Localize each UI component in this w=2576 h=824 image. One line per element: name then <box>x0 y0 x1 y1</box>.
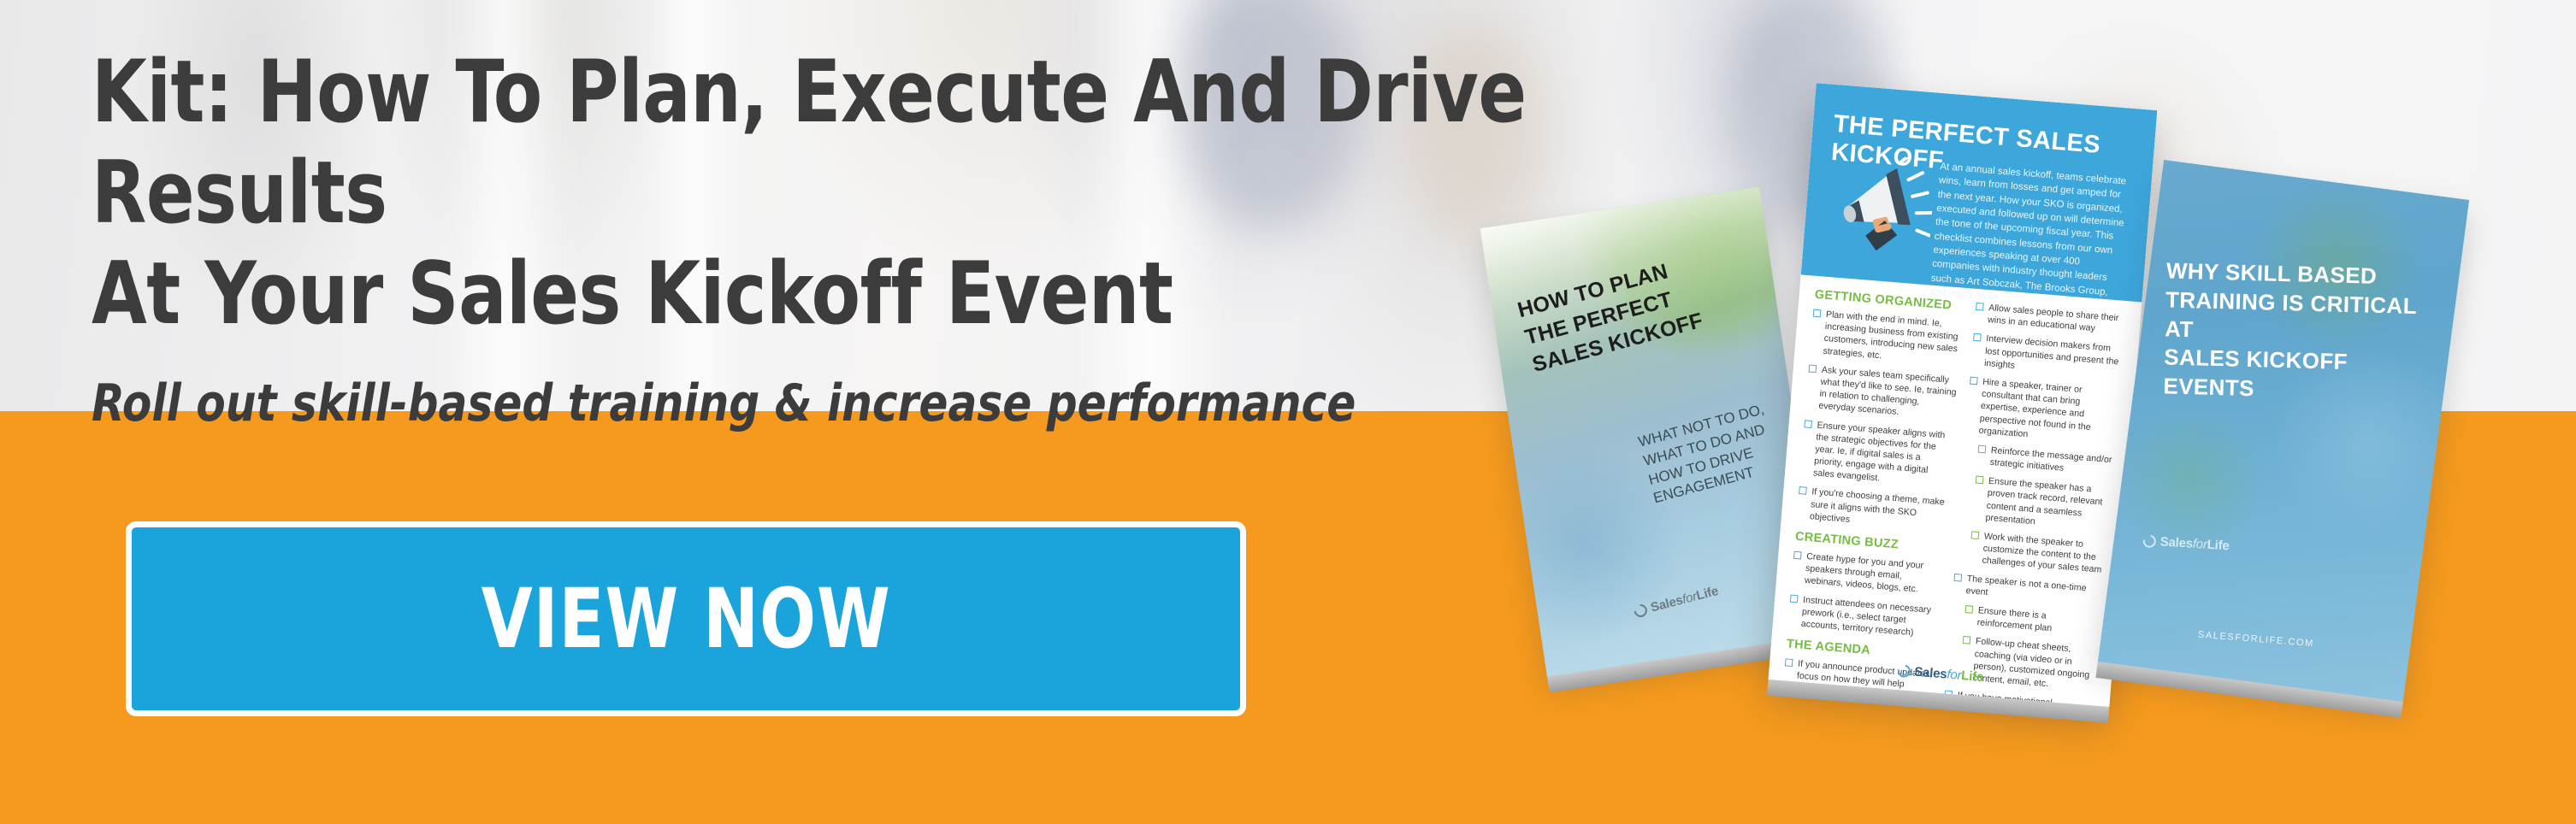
checklist-item-label: Ask your sales team specifically what th… <box>1818 363 1959 422</box>
checklist-item[interactable]: Ask your sales team specifically what th… <box>1805 362 1959 423</box>
checklist-item-label: Ensure your speaker aligns with the stra… <box>1813 419 1954 491</box>
checklist-item-label: Ensure the speaker has a proven track re… <box>1985 475 2112 533</box>
booklet-cover: WHY SKILL BASED TRAINING IS CRITICAL AT … <box>2098 160 2469 702</box>
page-subtitle: Roll out skill-based training & increase… <box>92 373 1603 434</box>
checklist-header: THE PERFECT SALES KICKOFF <box>1801 83 2158 302</box>
brand-word-1: Sales <box>2159 534 2193 550</box>
checklist-item[interactable]: Hire a speaker, trainer or consultant th… <box>1965 375 2119 448</box>
checkbox-icon[interactable] <box>1970 377 1978 386</box>
checklist-item-label: Plan with the end in mind. Ie, increasin… <box>1823 309 1963 368</box>
checklist-item[interactable]: Work with the speaker to customize the c… <box>1969 529 2107 576</box>
checkbox-icon[interactable] <box>1804 420 1812 428</box>
view-now-button-label: VIEW NOW <box>481 578 890 660</box>
checklist-item[interactable]: Plan with the end in mind. Ie, increasin… <box>1810 308 1963 368</box>
checklist-item[interactable]: Ensure your speaker aligns with the stra… <box>1800 418 1954 491</box>
sfl-ring-icon <box>1895 662 1913 680</box>
checklist-item-label: Hire a speaker, trainer or consultant th… <box>1978 376 2119 448</box>
checkbox-icon[interactable] <box>1799 486 1807 495</box>
booklet-perfect-sales-kickoff-checklist: THE PERFECT SALES KICKOFF <box>1769 83 2158 707</box>
checkbox-icon[interactable] <box>1809 364 1817 373</box>
checklist-item[interactable]: Interview decision makers from lost oppo… <box>1971 332 2124 380</box>
page-title: Kit: How To Plan, Execute And Drive Resu… <box>92 41 1586 344</box>
sales-for-life-logo: SalesforLife <box>2142 533 2230 556</box>
booklet-url: SALESFORLIFE.COM <box>2102 622 2410 656</box>
booklet-cover: THE PERFECT SALES KICKOFF <box>1769 83 2158 707</box>
checklist-item-label: Allow sales people to share their wins i… <box>1988 302 2126 337</box>
checklist-item-label: Work with the speaker to customize the c… <box>1982 531 2107 577</box>
checklist-item-label: The speaker is not a one-time event <box>1965 573 2104 608</box>
megaphone-icon <box>1821 151 1936 267</box>
checklist-item[interactable]: If you're choosing a theme, make sure it… <box>1797 485 1949 533</box>
view-now-button[interactable]: VIEW NOW <box>126 521 1246 716</box>
checkbox-icon[interactable] <box>1965 605 1974 614</box>
checklist-item-label: Ensure there is a reinforcement plan <box>1976 604 2101 639</box>
brand-word-1: Sales <box>1649 593 1684 615</box>
checkbox-icon[interactable] <box>1978 445 1987 454</box>
checklist-right-column: Allow sales people to share their wins i… <box>1945 301 2125 706</box>
sfl-ring-icon <box>1632 602 1650 620</box>
checkbox-icon[interactable] <box>1973 333 1982 342</box>
checklist-item[interactable]: Create hype for you and your speakers th… <box>1791 550 1943 597</box>
brand-word-1: Sales <box>1914 665 1947 682</box>
checkbox-icon[interactable] <box>1976 303 1984 311</box>
headline-block: Kit: How To Plan, Execute And Drive Resu… <box>92 41 1716 434</box>
checklist-item-label: Instruct attendees on necessary prework … <box>1800 593 1940 640</box>
brand-word-2: for <box>2192 537 2207 552</box>
checklist-item-label: Create hype for you and your speakers th… <box>1804 550 1943 597</box>
checklist-body: GETTING ORGANIZEDPlan with the end in mi… <box>1769 274 2142 707</box>
checklist-item[interactable]: Ensure there is a reinforcement plan <box>1964 603 2101 639</box>
checklist-item-label: Reinforce the message and/or strategic i… <box>1989 444 2114 479</box>
checklist-item-label: If you're choosing a theme, make sure it… <box>1809 486 1948 533</box>
brand-word-3: Life <box>1961 668 1984 685</box>
brand-word-3: Life <box>2207 538 2230 554</box>
booklet-why-skill-based-training: WHY SKILL BASED TRAINING IS CRITICAL AT … <box>2098 160 2469 702</box>
checkbox-icon[interactable] <box>1976 476 1984 485</box>
checkbox-icon[interactable] <box>1813 309 1822 318</box>
checkbox-icon[interactable] <box>1971 531 1980 539</box>
checklist-item[interactable]: The speaker is not a one-time event <box>1953 571 2104 607</box>
sfl-ring-icon <box>2141 533 2159 550</box>
checklist-left-column: GETTING ORGANIZEDPlan with the end in mi… <box>1784 288 1964 693</box>
checkbox-icon[interactable] <box>1954 573 1963 581</box>
checkbox-icon[interactable] <box>1963 636 1971 644</box>
checklist-item[interactable]: Ensure the speaker has a proven track re… <box>1972 474 2112 533</box>
checklist-item[interactable]: Allow sales people to share their wins i… <box>1975 301 2126 337</box>
brand-word-3: Life <box>1695 584 1720 603</box>
checkbox-icon[interactable] <box>1793 551 1802 560</box>
checklist-item[interactable]: Reinforce the message and/or strategic i… <box>1976 444 2114 479</box>
checklist-item[interactable]: Instruct attendees on necessary prework … <box>1787 592 1940 640</box>
brand-word-2: for <box>1947 668 1962 683</box>
booklet-title: WHY SKILL BASED TRAINING IS CRITICAL AT … <box>2163 256 2438 408</box>
checkbox-icon[interactable] <box>1790 594 1799 603</box>
sales-for-life-logo: SalesforLife <box>1633 584 1721 623</box>
promo-banner: Kit: How To Plan, Execute And Drive Resu… <box>0 0 2576 824</box>
checklist-item-label: Interview decision makers from lost oppo… <box>1984 333 2124 380</box>
